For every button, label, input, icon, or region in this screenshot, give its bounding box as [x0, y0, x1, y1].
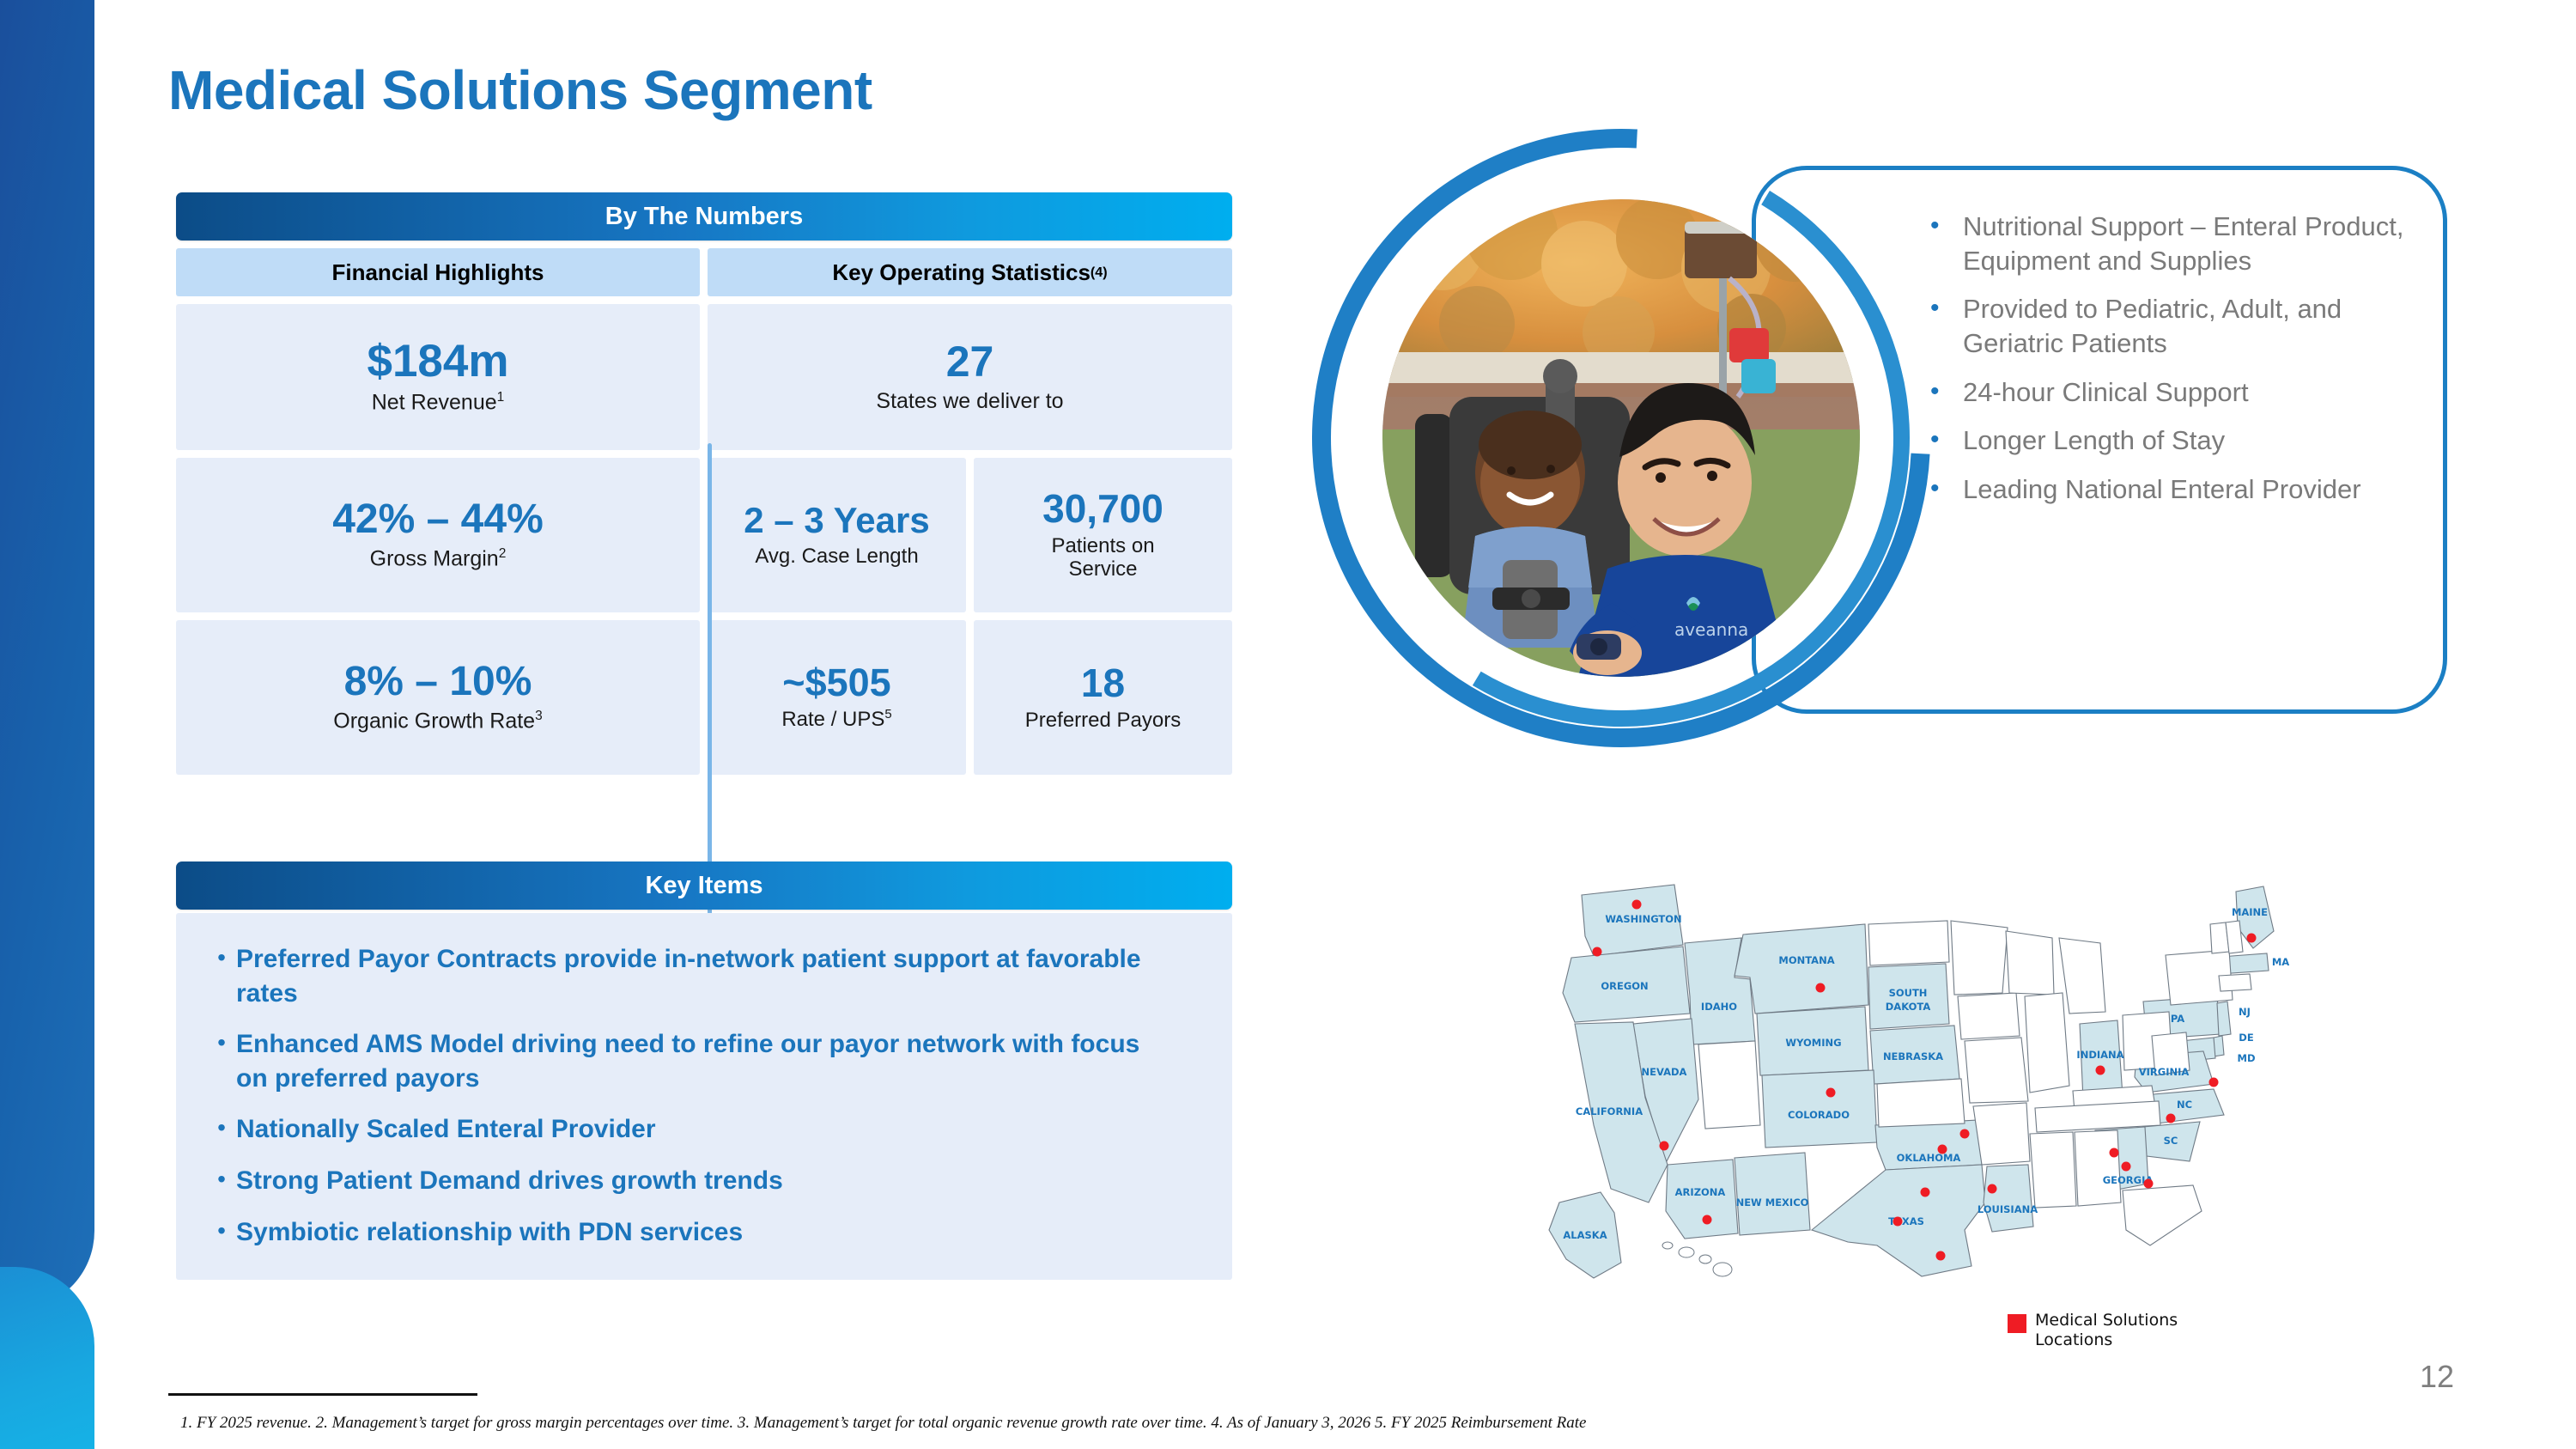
state-connecticut [2219, 974, 2251, 991]
location-dot [2122, 1162, 2131, 1172]
legend-color-swatch [2008, 1314, 2026, 1333]
state-label: WYOMING [1785, 1037, 1841, 1049]
stat-cell-net-revenue: $184m Net Revenue1 [176, 304, 700, 450]
state-label: VIRGINIA [2139, 1066, 2190, 1078]
list-item: • Enhanced AMS Model driving need to ref… [207, 1027, 1206, 1095]
highlight-text: Longer Length of Stay [1963, 423, 2225, 458]
list-item: • 24-hour Clinical Support [1930, 375, 2445, 410]
state-new-jersey [2217, 1002, 2231, 1036]
stat-label: States we deliver to [876, 389, 1063, 414]
bullet-icon: • [1930, 210, 1963, 242]
highlights-list: • Nutritional Support – Enteral Product,… [1930, 210, 2445, 521]
financial-highlights-header-label: Financial Highlights [331, 259, 544, 286]
location-dot [1632, 900, 1642, 910]
bullet-icon: • [1930, 292, 1963, 325]
stat-value: 2 – 3 Years [744, 502, 929, 539]
state-illinois [2025, 993, 2069, 1093]
state-florida [2123, 1185, 2202, 1245]
key-items-panel: Key Items • Preferred Payor Contracts pr… [176, 861, 1232, 1280]
state-missouri [1965, 1038, 2028, 1103]
state-alabama [2075, 1130, 2121, 1206]
state-label: COLORADO [1788, 1109, 1850, 1121]
list-item: • Nutritional Support – Enteral Product,… [1930, 210, 2445, 277]
state-new-hampshire [2226, 921, 2243, 953]
key-item-text: Nationally Scaled Enteral Provider [236, 1112, 656, 1147]
list-item: • Provided to Pediatric, Adult, and Geri… [1930, 292, 2445, 360]
left-decor-bar-bottom [0, 1267, 94, 1449]
state-mississippi [2030, 1132, 2076, 1208]
key-items-list: • Preferred Payor Contracts provide in-n… [176, 913, 1232, 1280]
state-label: DE [2239, 1032, 2254, 1044]
stat-footnote-marker: 1 [497, 390, 505, 405]
photo-decoration: aveanna [1312, 129, 1930, 747]
state-kansas [1877, 1079, 1965, 1127]
location-dot [2144, 1179, 2154, 1189]
location-dot [1703, 1215, 1712, 1225]
stat-value: 18 [1081, 663, 1125, 703]
location-dot [1826, 1088, 1836, 1098]
list-item: • Longer Length of Stay [1930, 423, 2445, 458]
photo-illustration: aveanna [1382, 199, 1860, 677]
stats-row-2: 42% – 44% Gross Margin2 2 – 3 Years Avg.… [176, 458, 1232, 612]
stat-cell-gross-margin: 42% – 44% Gross Margin2 [176, 458, 700, 612]
footnote-rule [168, 1393, 477, 1396]
caregiver-and-child-photo: aveanna [1382, 199, 1860, 677]
by-the-numbers-band-label: By The Numbers [176, 192, 1232, 240]
state-montana [1735, 924, 1868, 1014]
key-item-text: Strong Patient Demand drives growth tren… [236, 1164, 783, 1198]
stat-cell-patients-on-service: 30,700 Patients on Service [974, 458, 1232, 612]
stat-footnote-marker: 2 [499, 546, 507, 561]
stat-cell-preferred-payors: 18 Preferred Payors [974, 620, 1232, 775]
state-label: MD [2238, 1052, 2256, 1064]
location-dot [2096, 1066, 2105, 1075]
list-item: • Leading National Enteral Provider [1930, 472, 2445, 507]
state-north-dakota [1868, 921, 1949, 965]
key-operating-statistics-header-label: Key Operating Statistics [832, 259, 1091, 286]
by-the-numbers-panel: By The Numbers Financial Highlights Key … [176, 192, 1232, 775]
by-the-numbers-band: By The Numbers [176, 192, 1232, 240]
stats-row-3: 8% – 10% Organic Growth Rate3 ~$505 Rate… [176, 620, 1232, 775]
stat-value: 42% – 44% [332, 499, 544, 541]
legend-label-line1: Medical Solutions [2035, 1311, 2178, 1330]
bullet-icon: • [1930, 423, 1963, 456]
stat-label: Patients on Service [1018, 534, 1189, 582]
state-label: LOUISIANA [1978, 1203, 2038, 1215]
bullet-icon: • [207, 1215, 236, 1247]
highlight-text: Nutritional Support – Enteral Product, E… [1963, 210, 2445, 277]
location-dot [1988, 1184, 1997, 1194]
key-operating-statistics-header: Key Operating Statistics (4) [708, 248, 1232, 296]
state-label: SC [2164, 1135, 2178, 1147]
highlight-text: Provided to Pediatric, Adult, and Geriat… [1963, 292, 2445, 360]
stat-value: 27 [946, 340, 994, 384]
location-dot [1938, 1145, 1947, 1154]
stat-cell-rate-ups: ~$505 Rate / UPS5 [708, 620, 966, 775]
state-label: OREGON [1601, 980, 1648, 992]
location-dot [2209, 1078, 2219, 1087]
state-label: INDIANA [2076, 1049, 2123, 1061]
state-arizona [1666, 1160, 1738, 1239]
location-dot [1593, 947, 1602, 957]
stat-value: 8% – 10% [344, 661, 532, 703]
bullet-icon: • [1930, 375, 1963, 408]
state-label: ALASKA [1563, 1229, 1607, 1241]
state-label: NEBRASKA [1883, 1050, 1943, 1062]
map-inset-hawaii [1662, 1242, 1732, 1276]
key-item-text: Symbiotic relationship with PDN services [236, 1215, 743, 1250]
bullet-icon: • [207, 1027, 236, 1059]
column-headers-row: Financial Highlights Key Operating Stati… [176, 248, 1232, 296]
stat-label: Avg. Case Length [755, 545, 918, 569]
list-item: • Symbiotic relationship with PDN servic… [207, 1215, 1206, 1250]
state-label: SOUTH [1889, 987, 1928, 999]
location-dot [1660, 1142, 1669, 1151]
state-louisiana [1984, 1165, 2033, 1232]
page-title: Medical Solutions Segment [168, 58, 872, 122]
location-dot [1921, 1188, 1930, 1197]
footnote-text: 1. FY 2025 revenue. 2. Management’s targ… [180, 1414, 1586, 1433]
key-items-band: Key Items [176, 861, 1232, 910]
location-dot [2110, 1148, 2119, 1158]
state-label: MA [2272, 956, 2289, 968]
bullet-icon: • [207, 942, 236, 974]
stat-value: 30,700 [1042, 489, 1163, 529]
stat-footnote-marker: 5 [884, 708, 891, 721]
left-decor-bar-top [0, 0, 94, 1310]
key-operating-statistics-footnote-marker: (4) [1091, 265, 1108, 281]
state-label: WASHINGTON [1605, 913, 1681, 925]
stat-label: Rate / UPS5 [781, 708, 891, 732]
location-dot [2247, 934, 2257, 943]
state-label: PA [2171, 1013, 2184, 1025]
stat-value: ~$505 [782, 663, 890, 703]
key-item-text: Enhanced AMS Model driving need to refin… [236, 1027, 1163, 1095]
stat-label: Preferred Payors [1025, 709, 1181, 733]
list-item: • Strong Patient Demand drives growth tr… [207, 1164, 1206, 1198]
location-dot [1960, 1129, 1970, 1139]
stat-label: Net Revenue1 [372, 390, 505, 415]
state-minnesota [1951, 921, 2008, 995]
stat-cell-organic-growth-rate: 8% – 10% Organic Growth Rate3 [176, 620, 700, 775]
stat-footnote-marker: 3 [535, 709, 543, 723]
state-label: IDAHO [1701, 1001, 1737, 1013]
stat-value: $184m [367, 338, 508, 385]
stat-label: Gross Margin2 [370, 546, 507, 571]
legend-label: Medical Solutions Locations [2035, 1311, 2178, 1350]
stat-cell-avg-case-length: 2 – 3 Years Avg. Case Length [708, 458, 966, 612]
state-label: NJ [2239, 1006, 2251, 1018]
state-label: NC [2177, 1099, 2192, 1111]
state-label: NEVADA [1642, 1066, 1687, 1078]
stat-cell-states: 27 States we deliver to [708, 304, 1232, 450]
list-item: • Nationally Scaled Enteral Provider [207, 1112, 1206, 1147]
state-utah [1698, 1041, 1760, 1129]
state-new-mexico [1735, 1153, 1810, 1235]
stats-row-1: $184m Net Revenue1 27 States we deliver … [176, 304, 1232, 450]
state-arkansas [1973, 1103, 2030, 1165]
state-label: MONTANA [1778, 954, 1834, 966]
legend-label-line2: Locations [2035, 1330, 2178, 1350]
bullet-icon: • [1930, 472, 1963, 505]
state-iowa [1958, 993, 2020, 1039]
state-label: CALIFORNIA [1576, 1105, 1643, 1117]
map-legend: Medical Solutions Locations [2008, 1311, 2178, 1350]
svg-text:aveanna: aveanna [1674, 619, 1748, 640]
bullet-icon: • [207, 1164, 236, 1196]
stat-label: Organic Growth Rate3 [333, 709, 542, 734]
location-dot [1936, 1251, 1946, 1261]
highlight-text: 24-hour Clinical Support [1963, 375, 2249, 410]
bullet-icon: • [207, 1112, 236, 1144]
state-label: DAKOTA [1886, 1001, 1931, 1013]
key-item-text: Preferred Payor Contracts provide in-net… [236, 942, 1163, 1010]
highlight-text: Leading National Enteral Provider [1963, 472, 2361, 507]
state-label: MAINE [2232, 906, 2268, 918]
state-michigan [2059, 938, 2105, 1014]
state-label: OKLAHOMA [1897, 1152, 1961, 1164]
state-label: ARIZONA [1675, 1186, 1726, 1198]
key-items-band-label: Key Items [176, 861, 1232, 910]
state-wisconsin [2006, 931, 2054, 995]
state-label: NEW MEXICO [1736, 1196, 1809, 1209]
map-svg: WASHINGTON OREGON IDAHO MONTANA WYOMING … [1391, 764, 2456, 1374]
list-item: • Preferred Payor Contracts provide in-n… [207, 942, 1206, 1010]
location-dot [1816, 983, 1826, 993]
us-locations-map: WASHINGTON OREGON IDAHO MONTANA WYOMING … [1391, 764, 2456, 1374]
page-number: 12 [2420, 1359, 2454, 1395]
location-dot [1893, 1217, 1903, 1227]
financial-highlights-header: Financial Highlights [176, 248, 700, 296]
location-dot [2166, 1114, 2176, 1123]
